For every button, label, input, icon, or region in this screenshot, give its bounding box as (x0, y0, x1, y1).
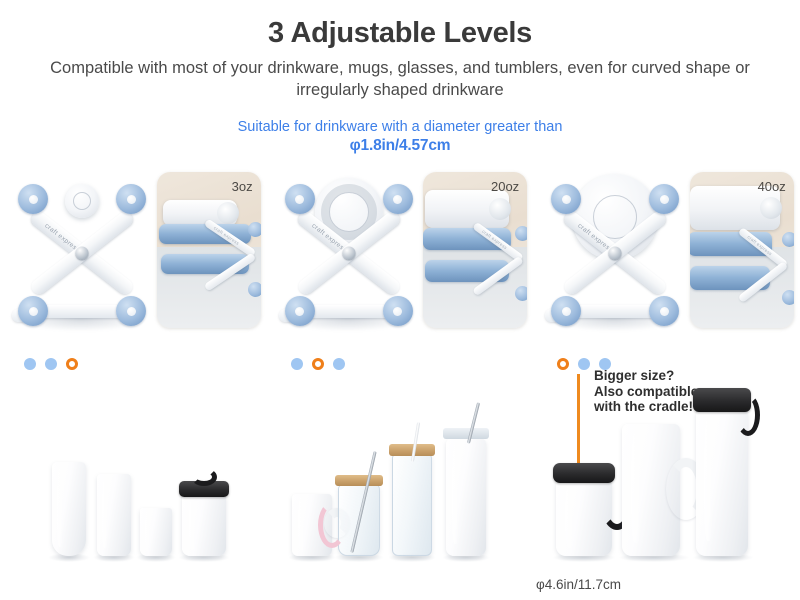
pink-glass-handle (318, 502, 346, 548)
highlight (452, 445, 458, 544)
tall-white-tumbler (97, 474, 131, 556)
black-carry-handle (191, 468, 217, 486)
white-sports-bottle (696, 408, 748, 556)
inset-mini-roller-top (515, 226, 527, 241)
cradle-pivot-screw (609, 247, 622, 260)
page-subtitle: Compatible with most of your drinkware, … (0, 58, 800, 102)
highlight (298, 498, 304, 550)
glass-can-pink-handle-bamboo-lid (338, 484, 380, 556)
skinny-tumbler-straw (446, 438, 486, 556)
inset-drinkware (425, 190, 509, 228)
drinkware-showcase-row: Bigger size? Also compatible with the cr… (0, 368, 800, 600)
lid-ring (73, 192, 91, 210)
roller-bottom-right (383, 296, 413, 326)
cradle-pivot-screw (342, 247, 355, 260)
capacity-label-20oz: 20oz (491, 179, 519, 194)
page-title: 3 Adjustable Levels (0, 18, 800, 50)
roller-top-left (18, 184, 48, 214)
roller-bottom-left (18, 296, 48, 326)
black-bottle-handle (736, 394, 760, 436)
white-cup-with-black-lid (182, 494, 226, 556)
diameter-note: Suitable for drinkware with a diameter g… (0, 118, 800, 156)
vessel-body (392, 454, 432, 556)
diameter-note-text: Suitable for drinkware with a diameter g… (238, 119, 563, 135)
inset-mini-roller-bottom (782, 290, 794, 305)
cradle-photo-3oz: craft express (8, 168, 156, 340)
highlight (704, 417, 712, 541)
highlight (145, 511, 150, 551)
cradle-mechanism: craft express (553, 178, 677, 328)
inset-mini-roller-bottom (248, 282, 261, 297)
large-tumbler-with-handle (622, 424, 680, 556)
level-card-3oz[interactable]: craft express 3oz craft express (0, 168, 267, 368)
drinkware-on-cradle (65, 184, 99, 218)
lid-ring (329, 192, 369, 232)
roller-top-right (649, 184, 679, 214)
diameter-measurement-label: φ4.6in/11.7cm (536, 577, 621, 592)
detail-inset-3oz: 3oz craft express (157, 172, 261, 328)
roller-bottom-left (285, 296, 315, 326)
bamboo-lid (335, 475, 383, 486)
roller-bottom-left (551, 296, 581, 326)
detail-inset-40oz: 40oz craft express (690, 172, 794, 328)
highlight (57, 468, 62, 547)
roller-bottom-right (649, 296, 679, 326)
cradle-photo-40oz: craft express (541, 168, 689, 340)
inset-drinkware (163, 200, 237, 226)
level-card-40oz[interactable]: craft express 40oz craft express (533, 168, 800, 368)
highlight (189, 498, 196, 550)
highlight (102, 479, 107, 548)
roller-bottom-right (116, 296, 146, 326)
drinkware-cap (217, 202, 239, 224)
white-flute-tumbler (52, 462, 86, 556)
roller-top-right (383, 184, 413, 214)
clear-lid (443, 428, 489, 439)
large-drinkware-set: Bigger size? Also compatible with the cr… (532, 368, 800, 600)
header: 3 Adjustable Levels Compatible with most… (0, 0, 800, 156)
capacity-label-3oz: 3oz (232, 179, 253, 194)
cradle-mechanism: craft express (20, 178, 144, 328)
inset-mini-roller-top (248, 222, 261, 237)
level-card-20oz[interactable]: craft express 20oz craft express (267, 168, 534, 368)
inset-mini-roller-top (782, 232, 794, 247)
adjustable-levels-row: craft express 3oz craft express (0, 168, 800, 368)
callout-line-1: Bigger size? (594, 368, 736, 384)
cradle-mechanism: craft express (287, 178, 411, 328)
diameter-value: φ1.8in/4.57cm (0, 136, 800, 156)
capacity-label-40oz: 40oz (758, 179, 786, 194)
short-white-cup (140, 508, 172, 556)
roller-top-left (551, 184, 581, 214)
drinkware-cap (489, 198, 511, 220)
roller-top-left (285, 184, 315, 214)
medium-drinkware-set (266, 368, 532, 600)
cradle-photo-20oz: craft express (275, 168, 423, 340)
highlight (631, 432, 640, 543)
roller-top-right (116, 184, 146, 214)
frosted-glass-bamboo-lid-straw (392, 454, 432, 556)
white-carafe-black-lid (556, 480, 612, 556)
small-drinkware-set (0, 368, 266, 600)
inset-mini-roller-bottom (515, 286, 527, 301)
detail-inset-20oz: 20oz craft express (423, 172, 527, 328)
drinkware-cap (760, 197, 782, 219)
highlight (565, 485, 574, 549)
cradle-pivot-screw (76, 247, 89, 260)
